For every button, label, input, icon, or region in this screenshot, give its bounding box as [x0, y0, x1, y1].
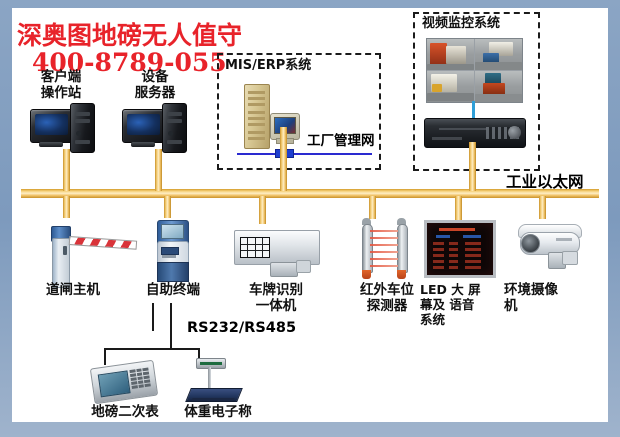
- barrier-gate: [42, 218, 138, 276]
- weighbridge-indicator-label: 地磅二次表: [74, 404, 176, 420]
- lpr-camera-label: 车牌识别 一体机: [228, 282, 324, 314]
- ir-left-tip: [362, 270, 371, 279]
- ir-beam: [370, 258, 398, 260]
- server-monitor: [122, 109, 165, 143]
- client-monitor: [30, 109, 73, 143]
- camera-lens: [521, 234, 540, 253]
- video-group-label: 视频监控系统: [422, 16, 527, 32]
- video-cell-1: [427, 39, 474, 70]
- ir-beam: [370, 244, 398, 246]
- lpr-illuminator-array: [240, 237, 270, 258]
- environment-camera-label: 环境摄像 机: [504, 282, 594, 314]
- client-monitor-stand: [39, 142, 63, 147]
- scale-post: [208, 367, 211, 390]
- barrier-gate-arm: [69, 236, 137, 250]
- video-cell-4: [475, 71, 522, 102]
- client-workstation-label: 客户端 操作站: [20, 69, 102, 101]
- indicator-screen: [98, 370, 131, 397]
- client-tower: [70, 103, 95, 153]
- slide-frame: 深奥图地磅无人值守 400-8789-055 MIS/ERP系统 工厂管理网 视…: [0, 0, 620, 437]
- mis-erp-group-label: MIS/ERP系统: [225, 58, 345, 74]
- diagram-canvas: 深奥图地磅无人值守 400-8789-055 MIS/ERP系统 工厂管理网 视…: [12, 8, 608, 422]
- drop-barrier-gate: [63, 196, 70, 218]
- serial-drop-kiosk: [152, 303, 154, 331]
- drop-led-system: [455, 196, 462, 220]
- drop-video-system: [469, 142, 476, 191]
- equipment-server: [122, 103, 197, 153]
- ir-beam: [370, 237, 398, 239]
- weighbridge-indicator: [90, 360, 160, 404]
- drop-client-workstation: [63, 149, 70, 191]
- lpr-camera: [230, 226, 322, 281]
- led-voice-system-label: LED 大 屏 幕及 语音 系统: [420, 282, 502, 327]
- drop-infrared-detector: [369, 196, 376, 219]
- client-workstation: [30, 103, 105, 153]
- infrared-detector-label: 红外车位 探测器: [344, 282, 430, 314]
- server-monitor-stand: [131, 142, 155, 147]
- ir-beam: [370, 265, 398, 267]
- industrial-ethernet-bus: [21, 189, 599, 198]
- barrier-gate-label: 道闸主机: [28, 282, 118, 298]
- indicator-keypad: [129, 367, 150, 388]
- server-tower: [162, 103, 187, 153]
- kiosk-screen: [161, 224, 184, 239]
- video-cell-3: [427, 71, 474, 102]
- factory-net-line: [237, 153, 372, 155]
- drop-self-service-terminal: [164, 196, 171, 218]
- serial-trunk-vertical: [170, 303, 172, 349]
- scale-indicator-head: [196, 358, 226, 369]
- drop-environment-camera: [539, 196, 546, 219]
- mis-server-tower: [244, 84, 270, 149]
- ir-right-pole: [397, 224, 408, 273]
- kiosk-card-slot: [161, 247, 179, 255]
- kiosk-base: [157, 262, 189, 282]
- drop-lpr-camera: [259, 196, 266, 224]
- infrared-detector: [357, 218, 417, 280]
- indicator-housing: [90, 360, 158, 405]
- ir-beam: [370, 230, 398, 232]
- self-service-terminal-label: 自助终端: [129, 282, 217, 298]
- environment-camera: [512, 219, 592, 277]
- led-voice-system: [424, 220, 496, 278]
- self-service-terminal: [149, 220, 195, 282]
- serial-trunk-horizontal: [104, 348, 200, 350]
- barrier-gate-post: [52, 238, 70, 288]
- electronic-scale-label: 体重电子称: [167, 404, 269, 420]
- video-cell-2: [475, 39, 522, 70]
- drop-mis-erp: [280, 127, 287, 191]
- serial-bus-label: RS232/RS485: [187, 320, 296, 336]
- page-title: 深奥图地磅无人值守: [17, 16, 242, 52]
- lpr-camera-mount: [270, 262, 298, 277]
- video-quad-display: [426, 38, 523, 103]
- video-dvr-cable: [472, 101, 475, 118]
- ir-beam: [370, 251, 398, 253]
- dvr-jog-dial: [508, 126, 521, 139]
- factory-net-label: 工厂管理网: [307, 129, 375, 149]
- drop-equipment-server: [155, 149, 162, 191]
- electronic-scale: [182, 358, 248, 404]
- ir-right-tip: [397, 270, 406, 279]
- equipment-server-label: 设备 服务器: [115, 69, 195, 101]
- led-display-board: [424, 220, 496, 278]
